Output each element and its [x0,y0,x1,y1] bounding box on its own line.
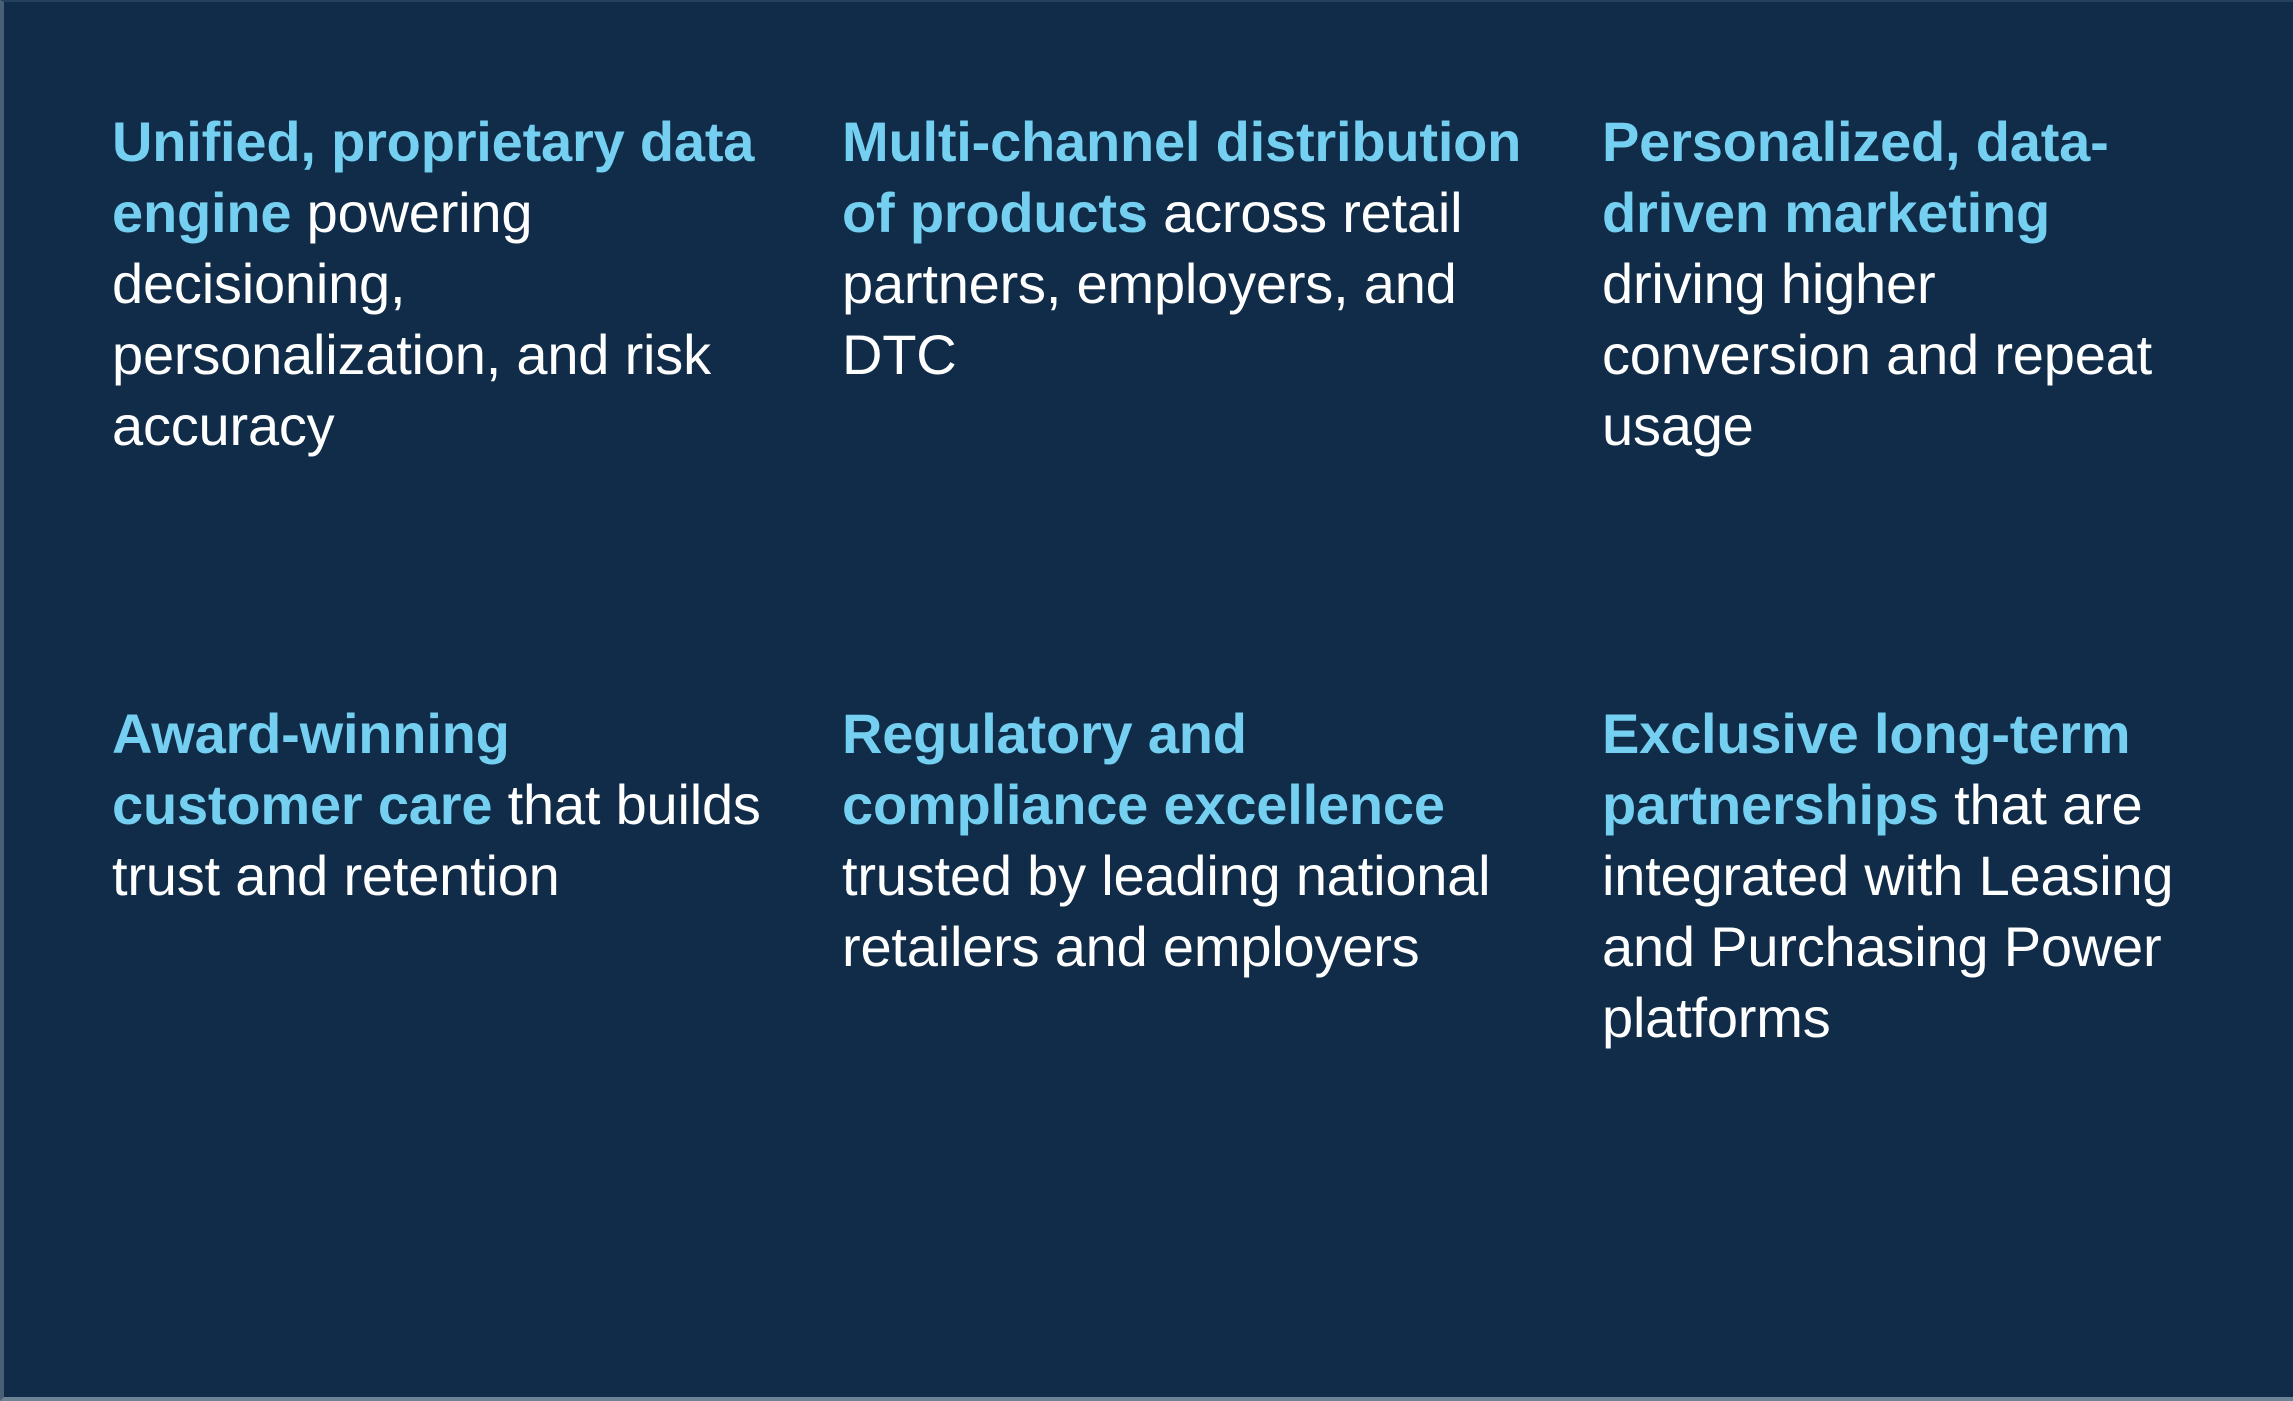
feature-cell-regulatory-compliance: Regulatory and compliance excellence tru… [842,698,1532,1053]
feature-grid: Unified, proprietary data engine powerin… [112,106,2222,1053]
feature-lead-personalized-marketing: Personalized, data-driven marketing [1602,110,2109,244]
feature-body-personalized-marketing: driving higher conversion and repeat usa… [1602,252,2152,457]
slide-canvas: Unified, proprietary data engine powerin… [0,0,2293,1401]
feature-cell-multi-channel-distribution: Multi-channel distribution of products a… [842,106,1532,698]
feature-cell-award-winning-care: Award-winning customer care that builds … [112,698,772,1053]
feature-lead-regulatory-compliance: Regulatory and compliance excellence [842,702,1445,836]
feature-cell-exclusive-partnerships: Exclusive long-term partnerships that ar… [1602,698,2202,1053]
feature-cell-personalized-marketing: Personalized, data-driven marketing driv… [1602,106,2202,698]
feature-lead-award-winning-care: Award-winning customer care [112,702,510,836]
feature-cell-unified-data-engine: Unified, proprietary data engine powerin… [112,106,772,698]
feature-body-regulatory-compliance: trusted by leading national retailers an… [842,844,1490,978]
